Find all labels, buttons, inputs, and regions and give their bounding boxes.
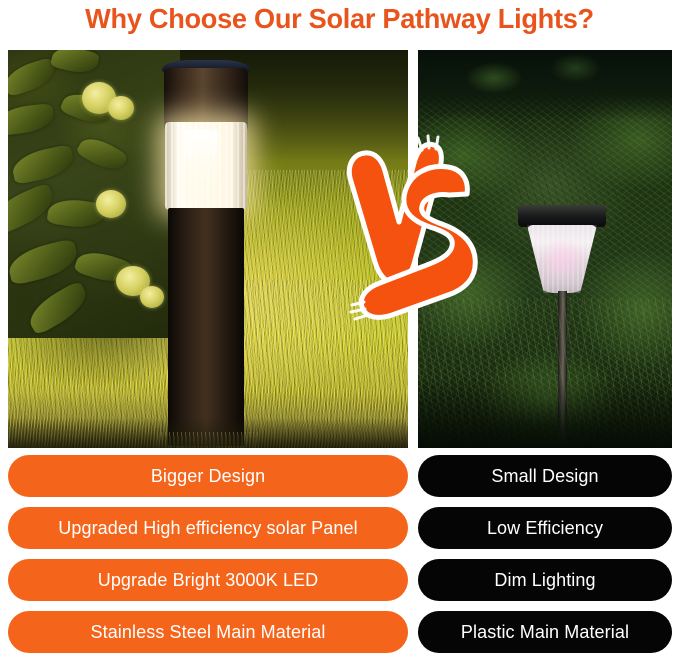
lamp-cap: [164, 68, 248, 130]
con-feature-pill[interactable]: Dim Lighting: [418, 559, 672, 601]
feature-row: Stainless Steel Main Material Plastic Ma…: [0, 611, 679, 663]
lawn-bottom-vignette: [8, 418, 408, 448]
stake-dim-glow: [540, 237, 584, 281]
feature-row: Bigger Design Small Design: [0, 455, 679, 507]
stake-solar-cap: [518, 205, 606, 227]
hedge-bottom-vignette: [418, 378, 672, 448]
comparison-photo-row: [8, 50, 672, 448]
pro-feature-pill[interactable]: Upgraded High efficiency solar Panel: [8, 507, 408, 549]
hedge-top-leaves: [418, 50, 672, 120]
led-glow: [184, 130, 218, 204]
con-feature-pill[interactable]: Plastic Main Material: [418, 611, 672, 653]
flower-cluster: [96, 190, 126, 218]
page-title: Why Choose Our Solar Pathway Lights?: [10, 2, 669, 38]
con-feature-pill[interactable]: Small Design: [418, 455, 672, 497]
feature-row: Upgrade Bright 3000K LED Dim Lighting: [0, 559, 679, 611]
pro-feature-pill[interactable]: Bigger Design: [8, 455, 408, 497]
shrub-foliage: [8, 50, 180, 338]
bollard-post: [168, 208, 244, 446]
con-feature-pill[interactable]: Low Efficiency: [418, 507, 672, 549]
solar-bollard-light: [160, 60, 252, 448]
pro-feature-pill[interactable]: Stainless Steel Main Material: [8, 611, 408, 653]
pro-feature-pill[interactable]: Upgrade Bright 3000K LED: [8, 559, 408, 601]
feature-comparison-list: Bigger Design Small Design Upgraded High…: [0, 455, 679, 663]
feature-row: Upgraded High efficiency solar Panel Low…: [0, 507, 679, 559]
vs-badge: [344, 136, 478, 328]
flower-cluster: [108, 96, 134, 120]
